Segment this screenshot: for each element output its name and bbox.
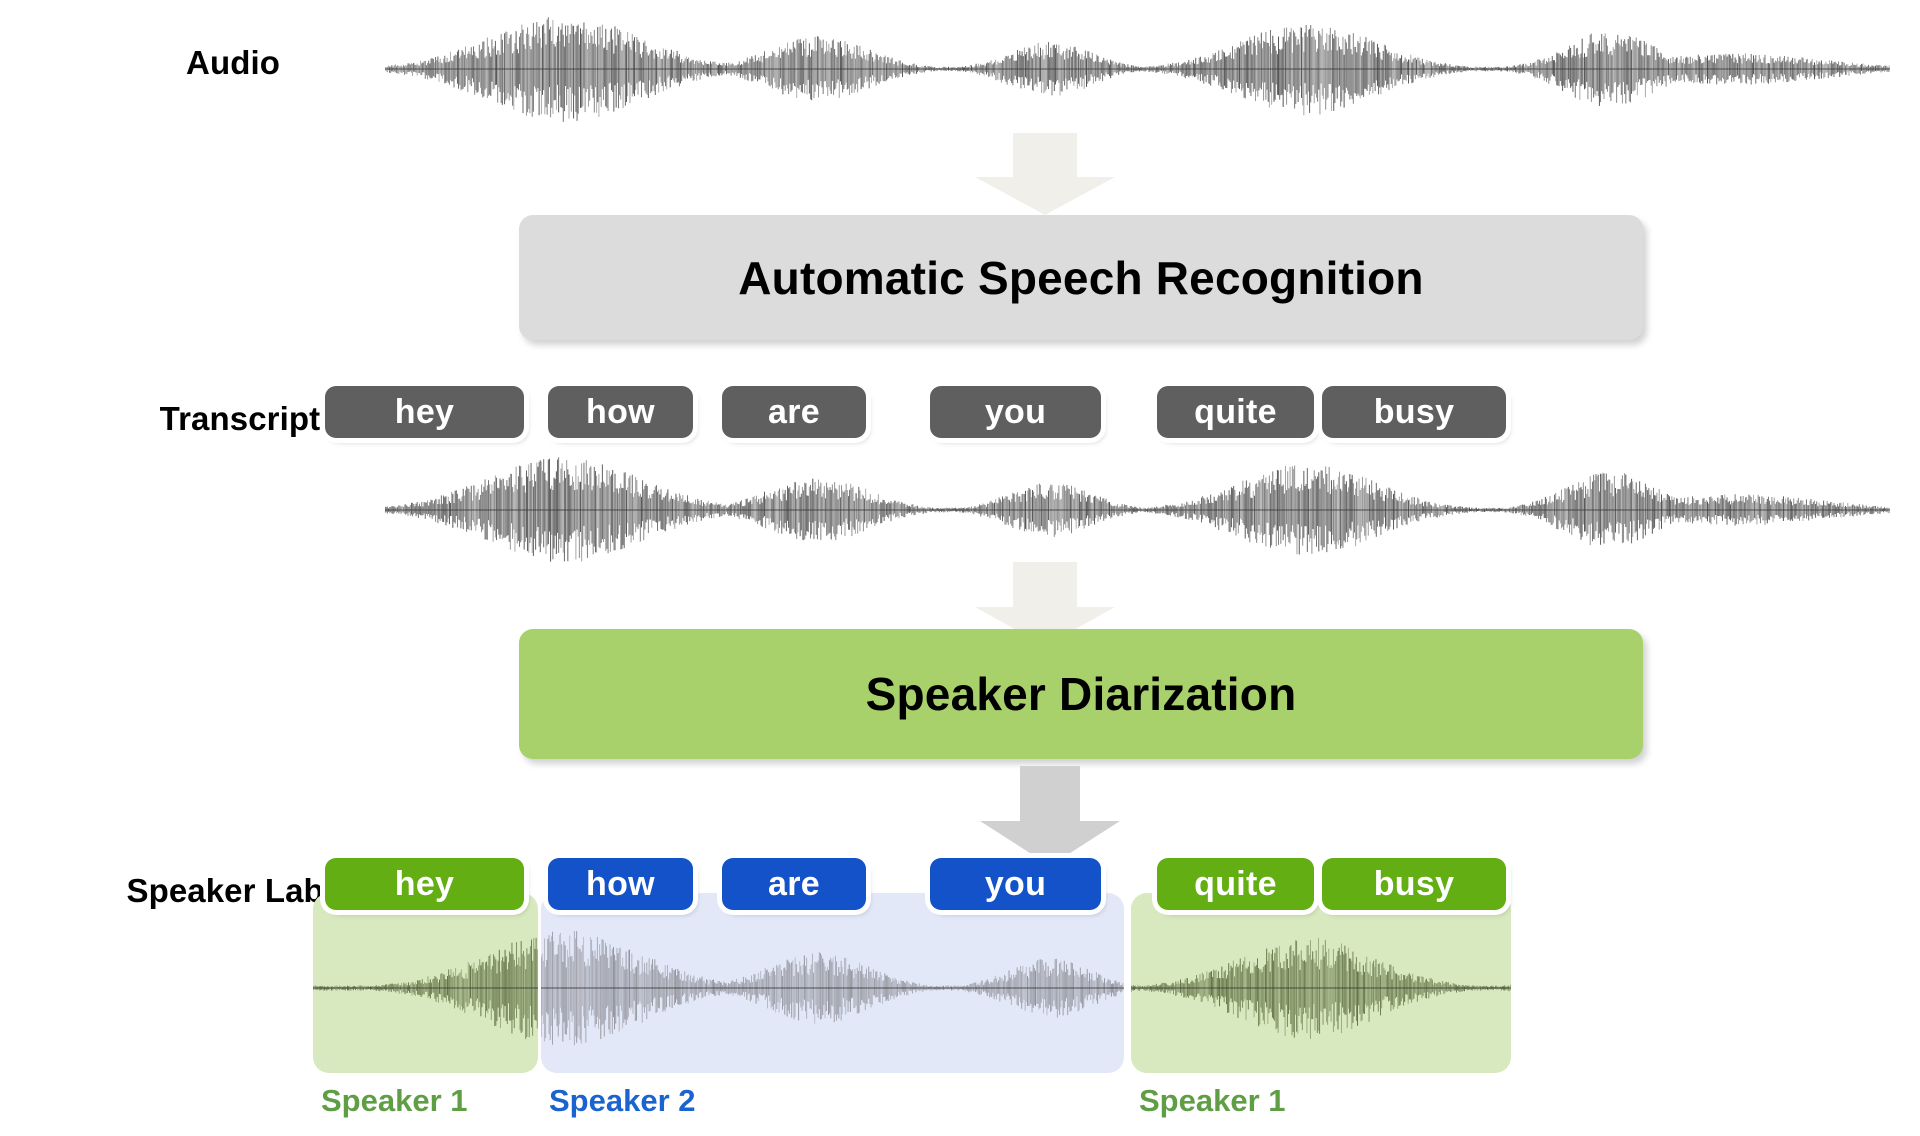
speaker-label-word-chip[interactable]: are [722,858,866,910]
stage-box-diarization[interactable]: Speaker Diarization [519,629,1643,759]
transcription-waveform [385,455,1890,565]
speaker-segment-waveform [1131,928,1511,1048]
audio-waveform [385,14,1890,124]
stage-box-asr[interactable]: Automatic Speech Recognition [519,215,1643,340]
speaker-label-word-chip[interactable]: how [548,858,693,910]
speaker-label-word-chip[interactable]: hey [325,858,524,910]
diagram-canvas: Audio Automatic Speech Recognition Trans… [0,0,1920,1136]
speaker-caption: Speaker 1 [321,1083,468,1119]
transcription-word-chip[interactable]: how [548,386,693,438]
speaker-label-word-chip[interactable]: you [930,858,1101,910]
transcription-word-chip[interactable]: you [930,386,1101,438]
row-label-transcription: Transcription [20,400,370,438]
transcription-word-chip[interactable]: busy [1322,386,1506,438]
row-label-audio: Audio [60,44,280,82]
speaker-label-word-chip[interactable]: quite [1157,858,1314,910]
speaker-caption: Speaker 1 [1139,1083,1286,1119]
speaker-label-word-chip[interactable]: busy [1322,858,1506,910]
transcription-word-chip[interactable]: hey [325,386,524,438]
speaker-caption: Speaker 2 [549,1083,696,1119]
transcription-word-chip[interactable]: are [722,386,866,438]
speaker-segment-waveform [541,928,1124,1048]
arrow-diarization-to-speaker-labels [980,766,1120,866]
arrow-audio-to-asr [975,133,1115,215]
transcription-word-chip[interactable]: quite [1157,386,1314,438]
speaker-segment-waveform [313,928,538,1048]
